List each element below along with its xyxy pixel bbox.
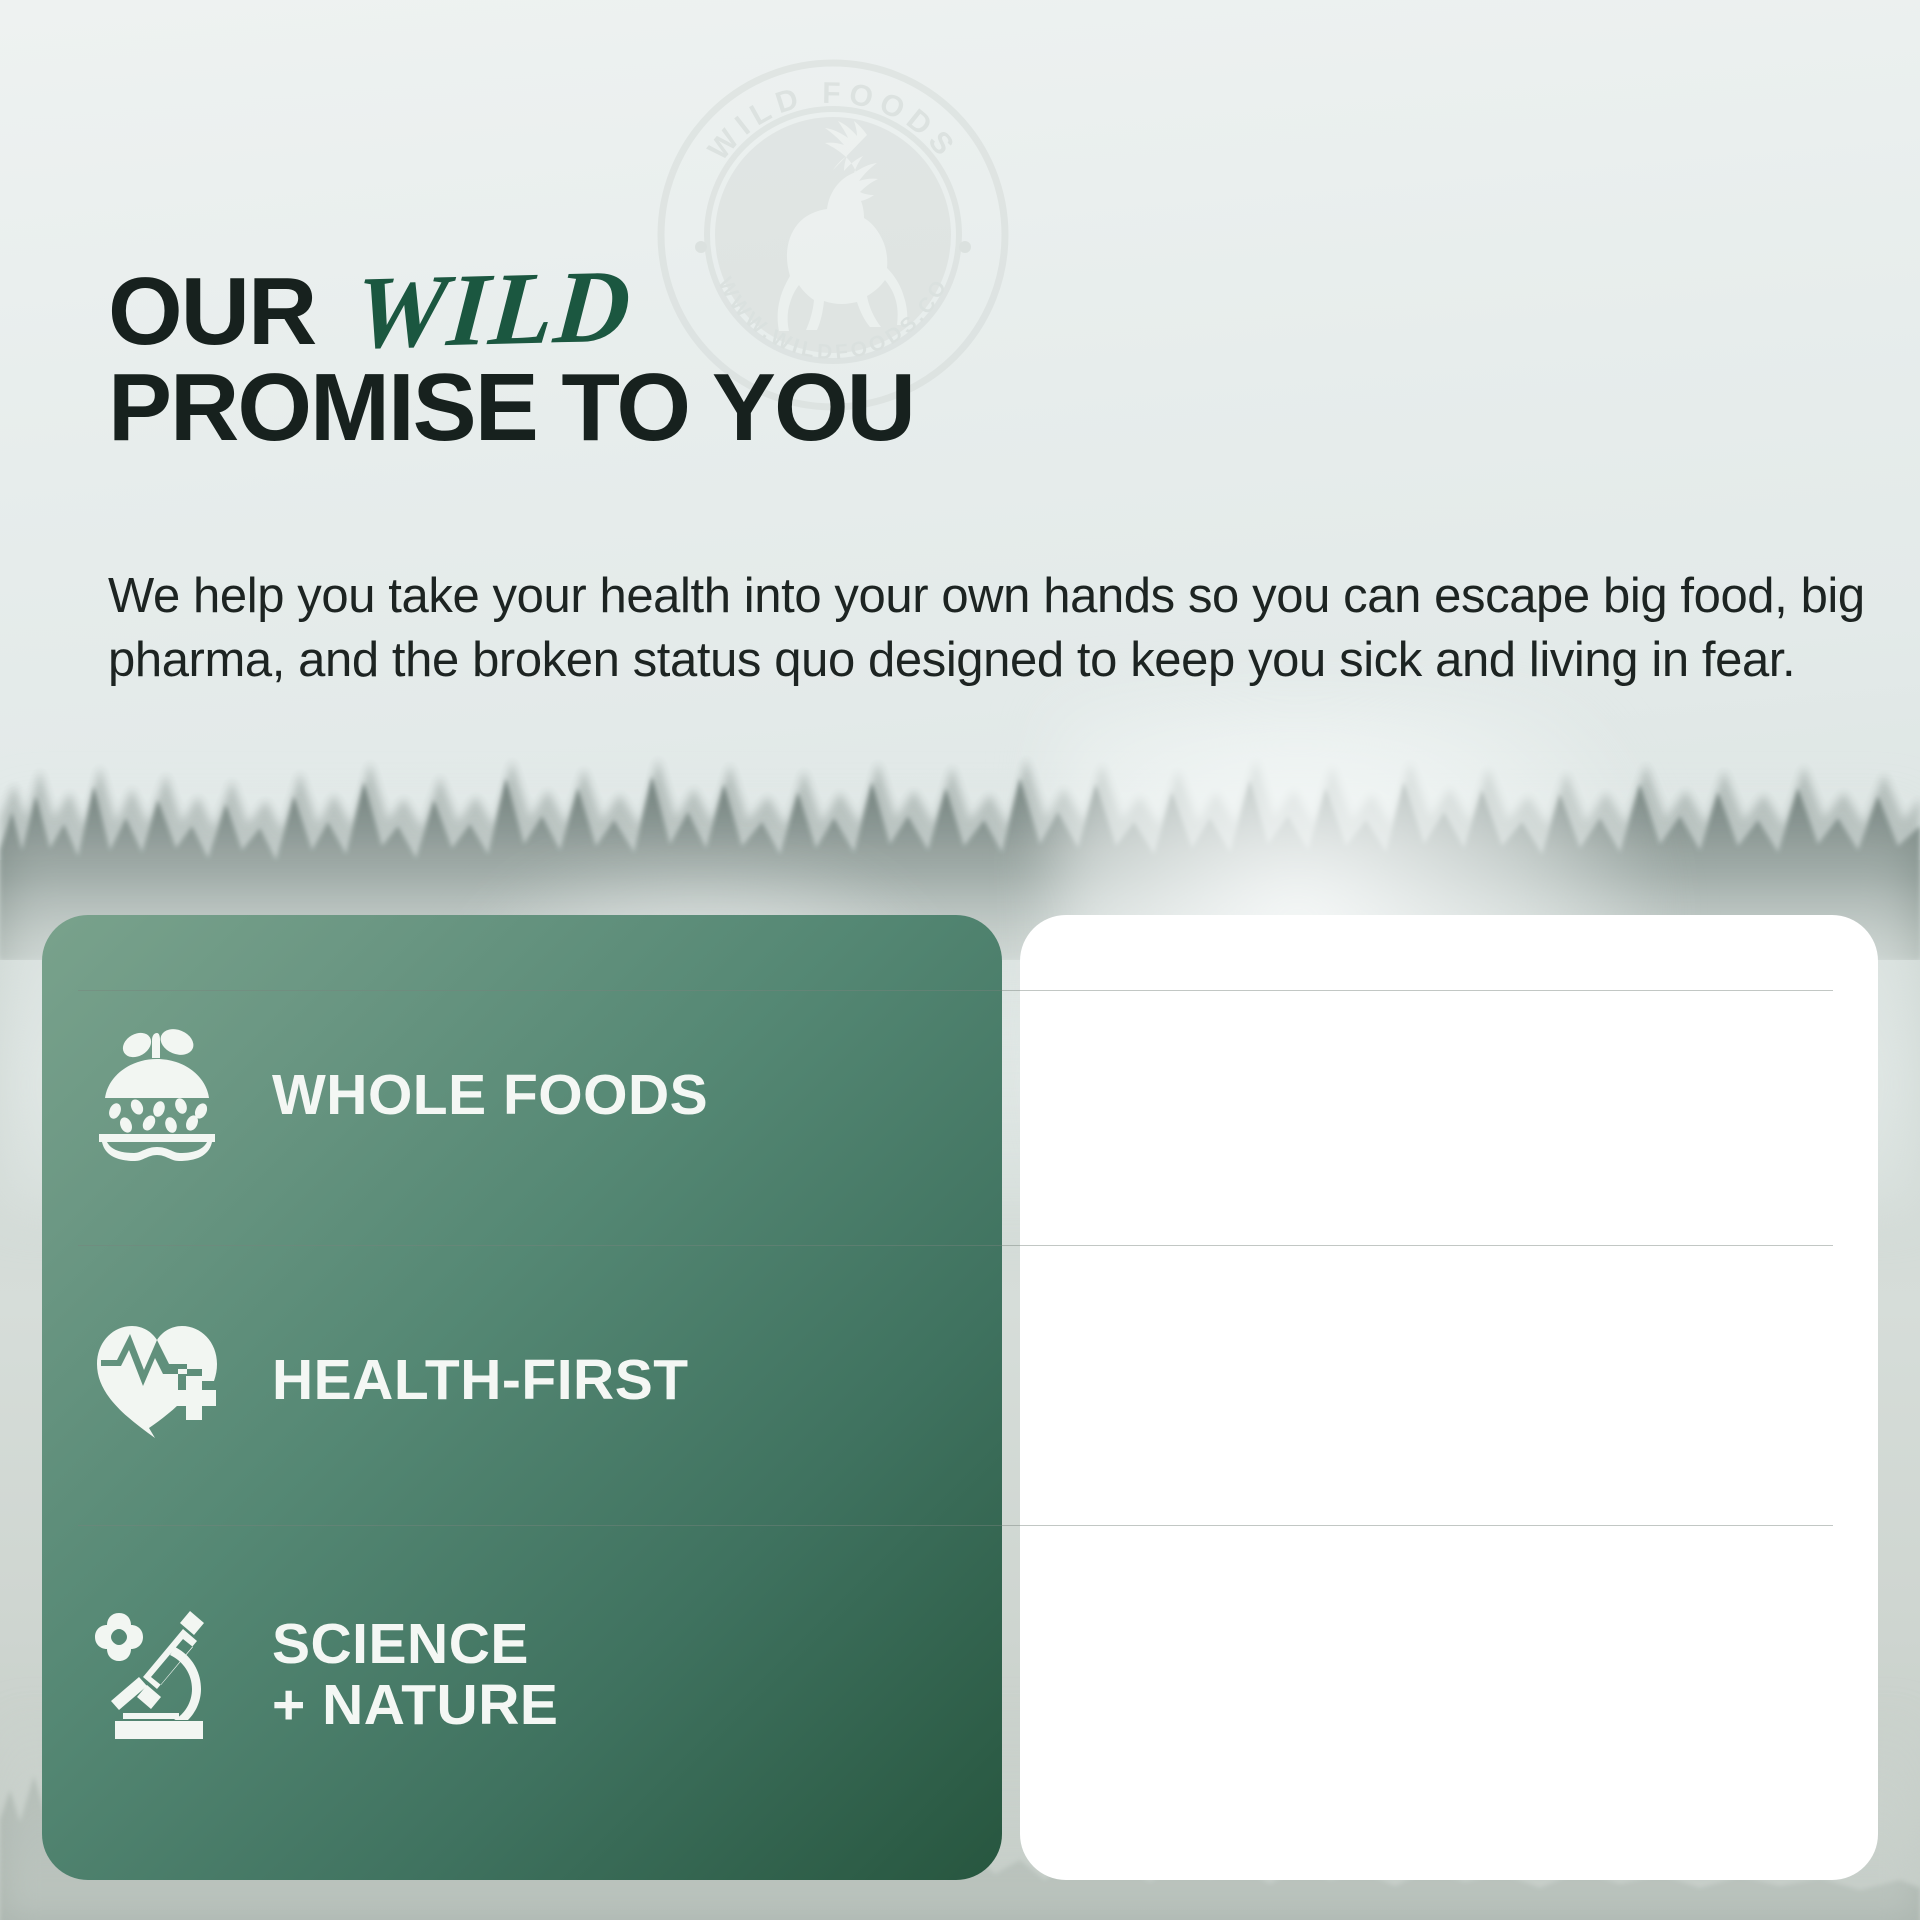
divider-mid-1	[78, 1245, 1833, 1246]
headline-word-our: OUR	[108, 263, 315, 361]
divider-top	[78, 990, 1833, 991]
promise-row-health-first[interactable]: HEALTH-FIRST	[42, 1240, 1002, 1520]
promise-title-health-first: HEALTH-FIRST	[272, 1350, 689, 1411]
divider-mid-2	[78, 1525, 1833, 1526]
headline-line-two: PROMISE TO YOU	[108, 358, 1108, 459]
promise-title-whole-foods: WHOLE FOODS	[272, 1065, 708, 1126]
page-title: OUR WILD PROMISE TO YOU	[108, 258, 1108, 459]
promise-row-science-nature[interactable]: SCIENCE + NATURE	[42, 1530, 1002, 1820]
promise-descriptions-card	[1020, 915, 1878, 1880]
promise-title-science-nature-text: SCIENCE + NATURE	[272, 1612, 558, 1737]
promise-row-whole-foods[interactable]: WHOLE FOODS	[42, 955, 1002, 1235]
promise-titles-card: WHOLE FOODS HEALTH-FIRST	[42, 915, 1002, 1880]
microscope-cell-icon	[42, 1609, 272, 1741]
heart-pulse-plus-icon	[42, 1318, 272, 1442]
promise-title-science-nature: SCIENCE + NATURE	[272, 1614, 558, 1736]
lede-paragraph: We help you take your health into your o…	[108, 565, 1888, 692]
headline-word-wild: WILD	[351, 254, 635, 365]
sprouting-grain-bowl-icon	[42, 1029, 272, 1161]
